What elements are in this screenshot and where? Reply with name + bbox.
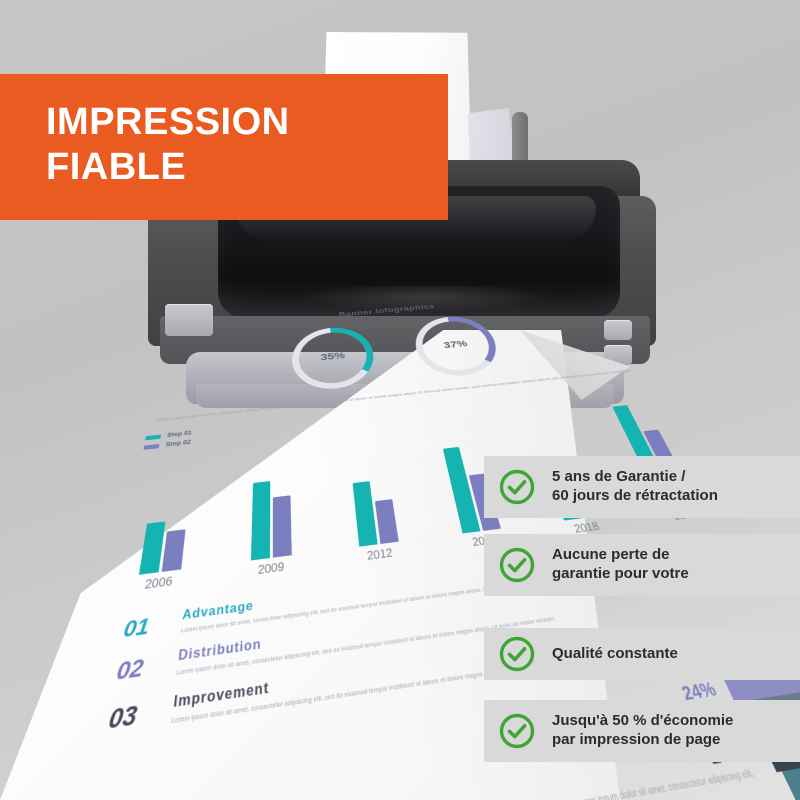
feature-callout-2: Aucune perte de garantie pour votre bbox=[484, 534, 800, 596]
feature-text-3: Qualité constante bbox=[552, 645, 678, 664]
donut-value-1: 35% bbox=[291, 324, 378, 392]
feature-callout-1: 5 ans de Garantie / 60 jours de rétracta… bbox=[484, 456, 800, 518]
check-circle-icon bbox=[498, 468, 536, 506]
feature-callout-3: Qualité constante bbox=[484, 628, 800, 680]
donut-chart-2: 37% bbox=[410, 314, 505, 380]
headline-banner: IMPRESSION FIABLE bbox=[0, 74, 448, 220]
headline-line-2: FIABLE bbox=[46, 146, 186, 188]
check-circle-icon bbox=[498, 546, 536, 584]
page-title: IMPRESSION FIABLE bbox=[0, 74, 448, 190]
feature-text-4: Jusqu'à 50 % d'économie par impression d… bbox=[552, 712, 733, 750]
feature-text-1: 5 ans de Garantie / 60 jours de rétracta… bbox=[552, 468, 718, 506]
bar-step-01-2012 bbox=[352, 481, 377, 546]
feature-text-2: Aucune perte de garantie pour votre bbox=[552, 546, 689, 584]
legend-label-step-01: Step 01 bbox=[167, 430, 192, 439]
bar-step-02-2009 bbox=[273, 495, 292, 557]
feature-callout-4: Jusqu'à 50 % d'économie par impression d… bbox=[484, 700, 800, 762]
check-circle-icon bbox=[498, 712, 536, 750]
x-tick-2009: 2009 bbox=[238, 557, 303, 578]
bar-group-2006 bbox=[127, 518, 198, 576]
step-number-01: 01 bbox=[122, 610, 168, 642]
step-number-03: 03 bbox=[107, 695, 158, 734]
step-number-02: 02 bbox=[115, 650, 163, 685]
x-tick-2006: 2006 bbox=[124, 572, 193, 594]
bar-step-02-2012 bbox=[374, 499, 398, 543]
check-circle-icon bbox=[498, 635, 536, 673]
bar-group-2009 bbox=[239, 478, 303, 562]
x-tick-2012: 2012 bbox=[348, 544, 412, 565]
bar-step-01-2009 bbox=[251, 481, 270, 560]
bar-group-2012 bbox=[342, 477, 410, 547]
legend-label-step-02: Step 02 bbox=[165, 439, 191, 448]
promo-image: Banner Infographics 35% 37% Lorem ipsum … bbox=[0, 0, 800, 800]
donut-value-2: 37% bbox=[410, 314, 505, 380]
bar-step-02-2006 bbox=[162, 529, 186, 571]
headline-line-1: IMPRESSION bbox=[46, 101, 290, 143]
legend-swatch-step-01 bbox=[145, 434, 161, 440]
donut-chart-1: 35% bbox=[291, 324, 378, 392]
legend-swatch-step-02 bbox=[143, 444, 159, 450]
